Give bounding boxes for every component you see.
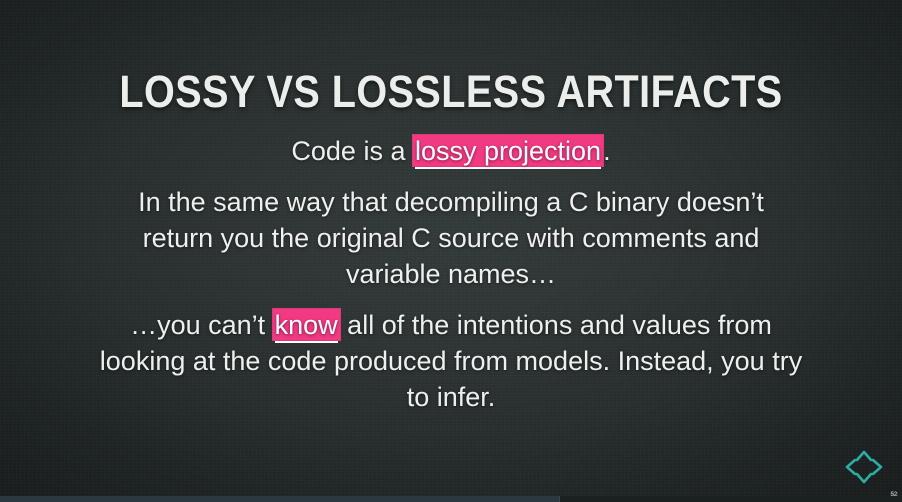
highlight-know-label: know xyxy=(275,310,338,343)
highlight-know: know xyxy=(273,309,340,340)
chevron-diamond-logo-icon xyxy=(840,444,888,490)
slide-progress-fill xyxy=(0,496,560,502)
paragraph-1-text-before: Code is a xyxy=(291,136,413,166)
presentation-slide: Lossy vs Lossless Artifacts Code is a lo… xyxy=(0,0,902,502)
slide-progress-bar[interactable] xyxy=(0,496,902,502)
paragraph-3: …you can’t know all of the intentions an… xyxy=(0,307,902,415)
highlight-lossy-projection-label: lossy projection xyxy=(415,136,601,169)
slide-title: Lossy vs Lossless Artifacts xyxy=(54,66,848,118)
paragraph-2: In the same way that decompiling a C bin… xyxy=(0,184,902,292)
highlight-lossy-projection: lossy projection xyxy=(413,135,603,166)
paragraph-3-text-before: …you can’t xyxy=(130,310,273,340)
paragraph-1: Code is a lossy projection. xyxy=(0,132,902,170)
paragraph-1-text-after: . xyxy=(603,136,611,166)
